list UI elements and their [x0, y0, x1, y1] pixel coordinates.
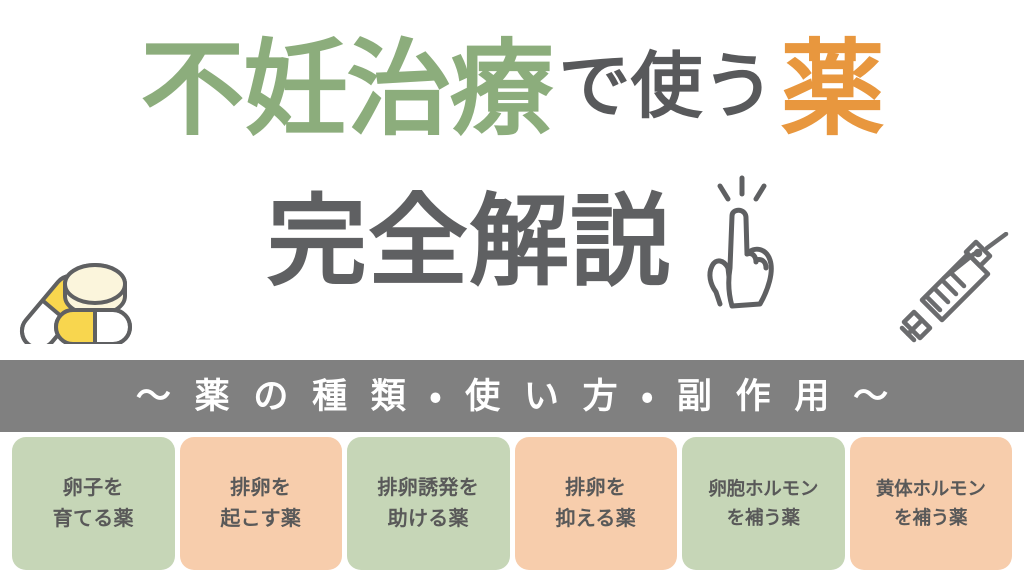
category-card-4-label: 排卵を抑える薬: [555, 473, 636, 535]
category-card-6[interactable]: 黄体ホルモンを補う薬: [850, 437, 1013, 570]
title-keyword-green: 不妊治療: [140, 32, 552, 148]
subtitle-banner: 〜 薬 の 種 類 ・ 使 い 方 ・ 副 作 用 〜: [0, 360, 1024, 432]
title-line-2: 完全解説: [0, 186, 1024, 298]
category-card-2-label: 排卵を起こす薬: [220, 473, 301, 535]
category-card-5[interactable]: 卵胞ホルモンを補う薬: [682, 437, 845, 570]
pointing-hand-icon: [694, 172, 790, 320]
category-card-1[interactable]: 卵子を育てる薬: [12, 437, 175, 570]
category-card-4[interactable]: 排卵を抑える薬: [515, 437, 678, 570]
category-card-5-label: 卵胞ホルモンを補う薬: [708, 475, 818, 532]
title-line-1: 不妊治療で使う薬: [0, 34, 1024, 146]
title-area: 不妊治療で使う薬 完全解説: [0, 0, 1024, 360]
category-card-1-label: 卵子を育てる薬: [53, 473, 134, 535]
category-card-3-label: 排卵誘発を助ける薬: [378, 473, 480, 535]
subtitle-banner-text: 〜 薬 の 種 類 ・ 使 い 方 ・ 副 作 用 〜: [129, 379, 895, 414]
title-connector-gray: で使う: [552, 47, 780, 127]
category-card-6-label: 黄体ホルモンを補う薬: [876, 475, 986, 532]
title-keyword-orange: 薬: [781, 32, 884, 148]
syringe-icon: [892, 232, 1010, 344]
category-card-row: 卵子を育てる薬 排卵を起こす薬 排卵誘発を助ける薬 排卵を抑える薬 卵胞ホルモン…: [12, 437, 1012, 570]
category-card-3[interactable]: 排卵誘発を助ける薬: [347, 437, 510, 570]
pills-icon: [14, 248, 142, 344]
thumbnail-canvas: 不妊治療で使う薬 完全解説: [0, 0, 1024, 576]
category-card-2[interactable]: 排卵を起こす薬: [180, 437, 343, 570]
